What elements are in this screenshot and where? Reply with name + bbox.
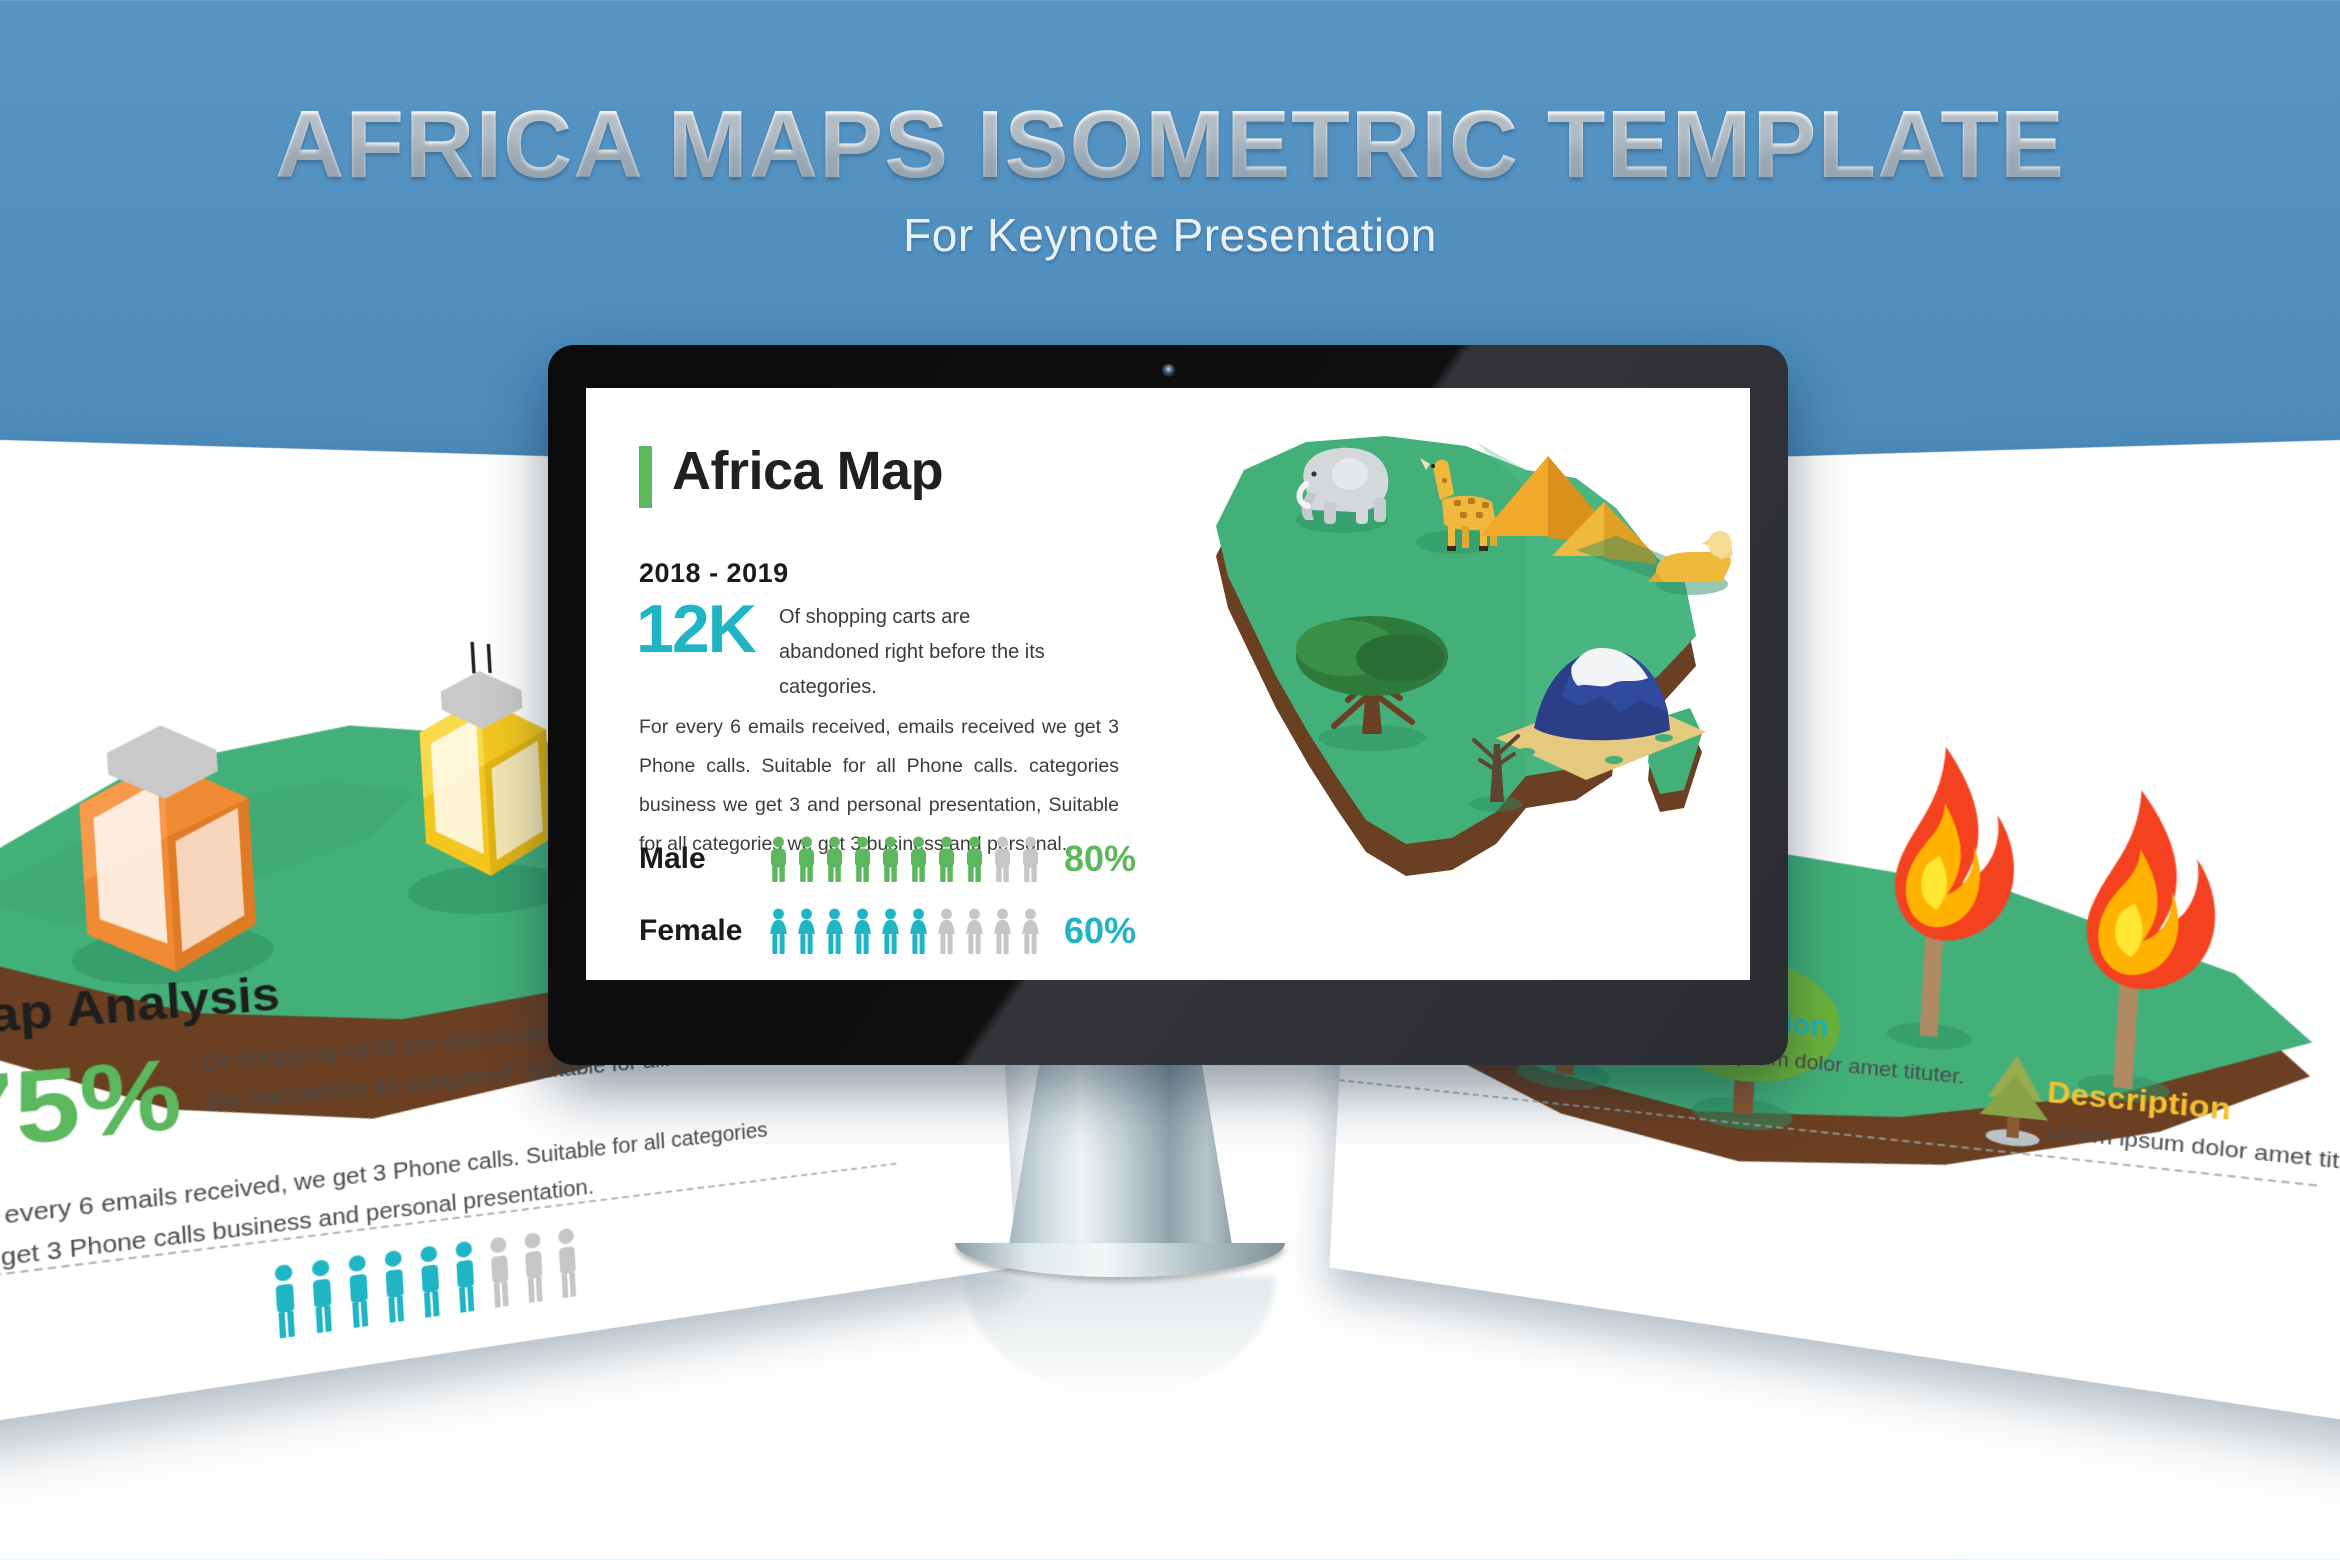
page-title: AFRICA MAPS ISOMETRIC TEMPLATE <box>0 95 2340 196</box>
female-figure-icon-strip <box>767 908 1042 954</box>
left-slide-big-number: 75% <box>0 1046 184 1166</box>
elephant-icon <box>1296 448 1388 533</box>
gender-label-female: Female <box>639 914 749 948</box>
title-accent-bar <box>639 446 652 508</box>
desktop-monitor[interactable]: Africa Map 2018 - 2019 12K Of shopping c… <box>548 345 1788 1065</box>
year-range-label: 2018 - 2019 <box>639 558 789 589</box>
sphinx-icon <box>1648 531 1732 595</box>
africa-map-slide: Africa Map 2018 - 2019 12K Of shopping c… <box>586 388 1750 980</box>
yellow-tower-icon <box>414 641 554 879</box>
slide-title: Africa Map <box>672 440 943 502</box>
gender-percent-male: 80% <box>1064 838 1136 880</box>
monitor-screen[interactable]: Africa Map 2018 - 2019 12K Of shopping c… <box>586 388 1750 980</box>
africa-isometric-map <box>1056 408 1750 968</box>
monitor-stand-neck <box>1008 1062 1233 1267</box>
gender-row-female: Female 60% <box>639 908 1136 954</box>
gender-row-male: Male 80% <box>639 836 1136 882</box>
stand-reflection <box>965 1277 1275 1397</box>
hero-header: AFRICA MAPS ISOMETRIC TEMPLATE For Keyno… <box>0 95 2340 262</box>
stat-description: Of shopping carts are abandoned right be… <box>779 600 1049 705</box>
gender-label-male: Male <box>639 842 749 876</box>
webcam-icon <box>1162 364 1175 377</box>
male-figure-icon-strip <box>767 836 1042 882</box>
stat-number: 12K <box>636 595 755 663</box>
monitor-chin <box>548 981 1788 1065</box>
pine-tree-icon <box>1970 1045 2062 1156</box>
gender-percent-female: 60% <box>1064 910 1136 952</box>
page-subtitle: For Keynote Presentation <box>0 208 2340 262</box>
